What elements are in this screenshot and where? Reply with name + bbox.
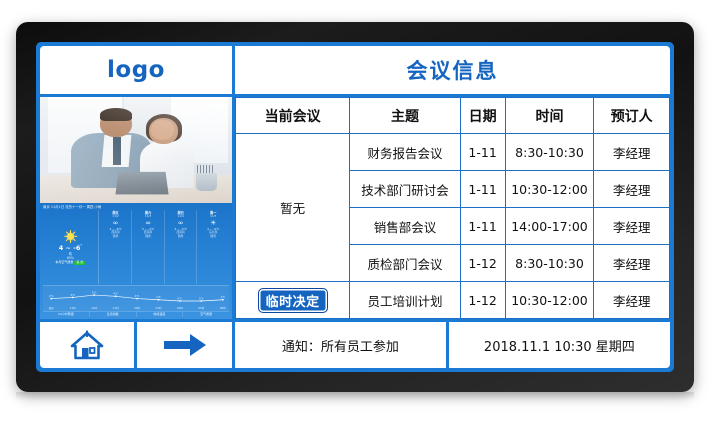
cell-owner: 李经理 bbox=[594, 245, 670, 282]
logo-text: logo bbox=[107, 57, 165, 83]
weather-forecast-list: 周五 11/2 ∞ 4 ~ -6℃ 西南风 微风 周六 bbox=[100, 210, 229, 284]
column-header-owner: 预订人 bbox=[594, 98, 670, 134]
cell-date: 1-12 bbox=[460, 245, 505, 282]
cell-date: 1-11 bbox=[460, 134, 505, 171]
svg-text:1℃: 1℃ bbox=[220, 296, 225, 300]
svg-text:0℃: 0℃ bbox=[199, 297, 204, 301]
svg-text:1℃: 1℃ bbox=[156, 296, 161, 300]
forecast-day-date: 11/5 bbox=[210, 215, 216, 218]
cell-owner: 李经理 bbox=[594, 171, 670, 208]
table-row: 暂无 财务报告会议 1-11 8:30-10:30 李经理 bbox=[236, 134, 670, 171]
svg-text:3℃: 3℃ bbox=[70, 293, 75, 297]
weather-today: 4 ~ -6° 晴 85% 本月空气质量 良 优 bbox=[43, 210, 99, 284]
temp-decision-cell: 临时决定 bbox=[236, 282, 350, 319]
weather-tab[interactable]: 空气质量 bbox=[183, 312, 229, 317]
temp-decision-badge[interactable]: 临时决定 bbox=[258, 288, 328, 313]
weather-temp-range: 4 ~ -6° bbox=[59, 244, 82, 252]
svg-text:2℃: 2℃ bbox=[135, 294, 140, 298]
cell-owner: 李经理 bbox=[594, 208, 670, 245]
next-page-button[interactable] bbox=[137, 322, 232, 368]
svg-text:17时: 17时 bbox=[113, 306, 120, 310]
cell-time: 8:30-10:30 bbox=[505, 245, 594, 282]
meeting-table: 当前会议 主题 日期 时间 预订人 暂无 财务报告会议 bbox=[235, 97, 670, 319]
weather-tabs: 24小时预报 生活指数 体感温度 空气质量 bbox=[43, 311, 229, 317]
meeting-table-panel: 当前会议 主题 日期 时间 预订人 暂无 财务报告会议 bbox=[235, 97, 670, 319]
svg-text:4℃: 4℃ bbox=[113, 292, 118, 296]
weather-humidity: 85% bbox=[67, 256, 74, 260]
aqi-label: 本月空气质量 bbox=[55, 261, 73, 265]
media-panel: 南京 11月1日 农历十一月一 周四 小雨 bbox=[40, 97, 232, 319]
svg-text:14时: 14时 bbox=[91, 306, 98, 310]
forecast-day: 周六 11/3 ∞ 5 ~ -4℃ 西南风 微风 bbox=[132, 210, 165, 284]
svg-text:现在: 现在 bbox=[49, 306, 55, 310]
bottom-bar: 通知：所有员工参加 2018.11.1 10:30 星期四 bbox=[40, 322, 670, 368]
forecast-day: 周日 11/4 ∞ 4 ~ -5℃ 西南风 微风 bbox=[165, 210, 198, 284]
forecast-day-date: 11/3 bbox=[145, 215, 151, 218]
screen: logo bbox=[36, 42, 674, 372]
cell-topic: 质检部门会议 bbox=[350, 245, 460, 282]
svg-text:02时: 02时 bbox=[177, 306, 184, 310]
svg-text:20时: 20时 bbox=[134, 306, 141, 310]
notice-text: 通知：所有员工参加 bbox=[282, 336, 399, 355]
forecast-wind-level: 微风 bbox=[210, 235, 216, 238]
cell-time: 10:30-12:00 bbox=[505, 282, 594, 319]
aqi-badge: 良 优 bbox=[74, 261, 85, 265]
weather-location-line: 南京 11月1日 农历十一月一 周四 小雨 bbox=[43, 205, 229, 209]
svg-text:23时: 23时 bbox=[155, 306, 162, 310]
column-header-time: 时间 bbox=[505, 98, 594, 134]
cell-topic: 员工培训计划 bbox=[350, 282, 460, 319]
cell-time: 8:30-10:30 bbox=[505, 134, 594, 171]
svg-text:08时: 08时 bbox=[220, 306, 227, 310]
cell-owner: 李经理 bbox=[594, 282, 670, 319]
left-column: logo bbox=[40, 46, 232, 319]
cell-time: 14:00-17:00 bbox=[505, 208, 594, 245]
logo-panel: logo bbox=[40, 46, 232, 94]
cell-date: 1-12 bbox=[460, 282, 505, 319]
forecast-day: 周五 11/2 ∞ 4 ~ -6℃ 西南风 微风 bbox=[100, 210, 133, 284]
monitor-base-shadow bbox=[16, 392, 694, 400]
weather-tab[interactable]: 体感温度 bbox=[137, 312, 184, 317]
notice-panel: 通知：所有员工参加 bbox=[235, 322, 446, 368]
svg-text:11时: 11时 bbox=[70, 306, 77, 310]
forecast-wind-level: 微风 bbox=[113, 235, 119, 238]
forecast-day-date: 11/4 bbox=[178, 215, 184, 218]
cell-time: 10:30-12:00 bbox=[505, 171, 594, 208]
home-button[interactable] bbox=[40, 322, 134, 368]
svg-text:05时: 05时 bbox=[198, 306, 205, 310]
cell-owner: 李经理 bbox=[594, 134, 670, 171]
sun-icon bbox=[64, 230, 77, 243]
cell-topic: 技术部门研讨会 bbox=[350, 171, 460, 208]
weather-tab[interactable]: 24小时预报 bbox=[43, 312, 90, 317]
table-header-row: 当前会议 主题 日期 时间 预订人 bbox=[236, 98, 670, 134]
column-header-topic: 主题 bbox=[350, 98, 460, 134]
table-row: 临时决定 员工培训计划 1-12 10:30-12:00 李经理 bbox=[236, 282, 670, 319]
svg-text:0℃: 0℃ bbox=[178, 297, 183, 301]
cell-date: 1-11 bbox=[460, 171, 505, 208]
weather-aqi: 本月空气质量 良 优 bbox=[55, 261, 85, 265]
forecast-wind-level: 微风 bbox=[178, 235, 184, 238]
hourly-temperature-chart: 2℃现在3℃11时5℃14时4℃17时2℃20时1℃23时0℃02时0℃05时1… bbox=[43, 285, 229, 311]
upper-region: logo bbox=[40, 46, 670, 319]
current-meeting-none: 暂无 bbox=[236, 134, 350, 282]
right-column: 会议信息 当前会议 主题 日期 bbox=[235, 46, 670, 319]
svg-text:5℃: 5℃ bbox=[92, 291, 97, 295]
office-photo bbox=[40, 97, 232, 203]
column-header-date: 日期 bbox=[460, 98, 505, 134]
arrow-right-icon bbox=[162, 332, 208, 358]
forecast-day-date: 11/2 bbox=[112, 215, 118, 218]
forecast-wind-level: 微风 bbox=[145, 235, 151, 238]
cell-topic: 销售部会议 bbox=[350, 208, 460, 245]
weather-tab[interactable]: 生活指数 bbox=[90, 312, 137, 317]
column-header-current-meeting: 当前会议 bbox=[236, 98, 350, 134]
weather-widget: 南京 11月1日 农历十一月一 周四 小雨 bbox=[40, 203, 232, 319]
datetime-text: 2018.11.1 10:30 星期四 bbox=[484, 336, 635, 355]
forecast-day: 周一 11/5 ☀ 3 ~ -6℃ 东北风 微风 bbox=[197, 210, 229, 284]
cell-topic: 财务报告会议 bbox=[350, 134, 460, 171]
cell-date: 1-11 bbox=[460, 208, 505, 245]
photo-light-haze bbox=[40, 97, 232, 203]
title-panel: 会议信息 bbox=[235, 46, 670, 94]
home-icon bbox=[70, 330, 104, 360]
datetime-panel: 2018.11.1 10:30 星期四 bbox=[449, 322, 670, 368]
page-title: 会议信息 bbox=[407, 55, 499, 85]
svg-text:2℃: 2℃ bbox=[49, 294, 54, 298]
display-bezel: logo bbox=[16, 22, 694, 392]
